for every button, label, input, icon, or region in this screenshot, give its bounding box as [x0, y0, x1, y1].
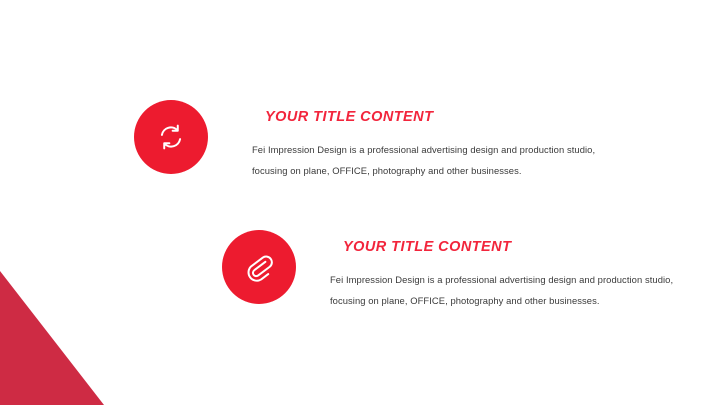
block-2-title: YOUR TITLE CONTENT — [330, 232, 673, 255]
block-2-body: Fei Impression Design is a professional … — [330, 255, 673, 311]
block-1-body: Fei Impression Design is a professional … — [252, 125, 595, 181]
bottom-left-red-triangle — [0, 271, 104, 405]
paperclip-icon — [244, 252, 274, 282]
icon-circle-paperclip[interactable] — [222, 230, 296, 304]
block-2-body-line-1: Fei Impression Design is a professional … — [330, 269, 673, 290]
refresh-sync-icon — [157, 123, 185, 151]
feature-block-1: YOUR TITLE CONTENT Fei Impression Design… — [134, 100, 595, 181]
icon-circle-refresh[interactable] — [134, 100, 208, 174]
feature-block-1-text: YOUR TITLE CONTENT Fei Impression Design… — [252, 100, 595, 181]
feature-block-2: YOUR TITLE CONTENT Fei Impression Design… — [222, 230, 673, 311]
block-1-body-line-1: Fei Impression Design is a professional … — [252, 139, 595, 160]
feature-block-2-text: YOUR TITLE CONTENT Fei Impression Design… — [330, 230, 673, 311]
slide-canvas: YOUR TITLE CONTENT Fei Impression Design… — [0, 0, 721, 405]
block-1-title: YOUR TITLE CONTENT — [252, 102, 595, 125]
block-2-body-line-2: focusing on plane, OFFICE, photography a… — [330, 290, 673, 311]
block-1-body-line-2: focusing on plane, OFFICE, photography a… — [252, 160, 595, 181]
